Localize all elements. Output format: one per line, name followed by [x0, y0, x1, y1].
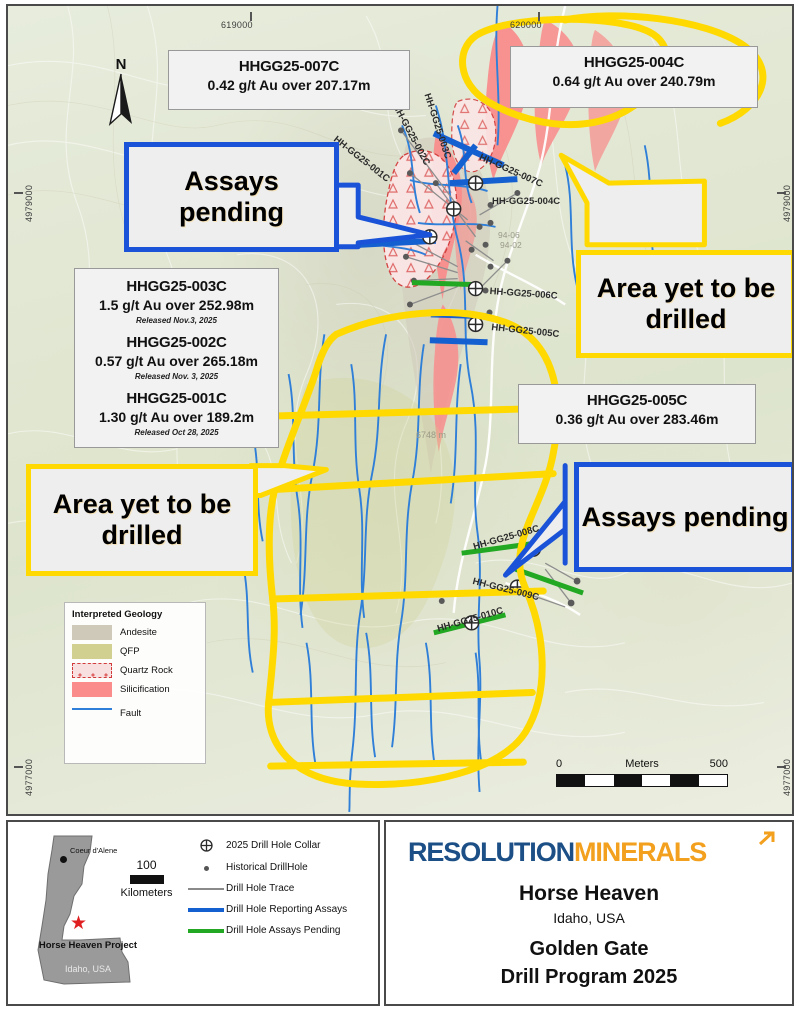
historical-drillhole-icon [186, 866, 226, 871]
title-project-name: Horse Heaven [386, 882, 792, 906]
symbol-label-collar: 2025 Drill Hole Collar [226, 840, 320, 852]
silicification-swatch [72, 682, 112, 697]
andesite-label: Andesite [120, 627, 157, 638]
symbol-label-historical: Historical DrillHole [226, 862, 308, 874]
callout-leader-assays-1 [331, 185, 429, 247]
callout-area-yet-to-be-drilled-left[interactable]: Area yet to be drilled [26, 464, 258, 576]
resolution-minerals-logo: RESOLUTIONMINERALS [408, 836, 774, 870]
silicification-label: Silicification [120, 684, 170, 695]
geology-legend-row-fault: Fault [72, 701, 198, 725]
locator-inset-map[interactable]: Coeur d'Alene ★ Horse Heaven Project Ida… [24, 830, 164, 1000]
symbol-row-pending: Drill Hole Assays Pending [186, 925, 378, 937]
fault-label: Fault [120, 708, 141, 719]
inset-state-label: Idaho, USA [38, 964, 138, 974]
map-scalebar: 0 Meters 500 [556, 758, 728, 787]
geology-legend-row-quartz: Quartz Rock [72, 663, 198, 678]
legend-panel: Coeur d'Alene ★ Horse Heaven Project Ida… [6, 820, 380, 1006]
logo-text-part2: MINERALS [574, 837, 706, 867]
inset-city-dot [60, 856, 67, 863]
title-target-name: Golden Gate [386, 938, 792, 961]
symbol-row-collar: 2025 Drill Hole Collar [186, 838, 378, 853]
fault-swatch [72, 708, 112, 725]
drill-trace-icon [186, 888, 226, 890]
callout-assays-pending-bottom[interactable]: Assays pending [574, 462, 794, 572]
map-page: 619000 620000 4979000 4977000 4979000 49… [0, 0, 800, 1010]
inset-scalebar: 100 Kilometers [119, 858, 174, 899]
symbol-row-historical: Historical DrillHole [186, 862, 378, 874]
inset-scale-bar [130, 875, 164, 884]
inset-project-label: Horse Heaven Project [38, 940, 138, 952]
symbol-label-pending: Drill Hole Assays Pending [226, 925, 341, 937]
callout-leader-area-2 [251, 466, 327, 496]
qfp-label: QFP [120, 646, 140, 657]
logo-text-part1: RESOLUTION [408, 837, 574, 867]
symbol-legend[interactable]: 2025 Drill Hole Collar Historical DrillH… [186, 838, 378, 946]
title-location: Idaho, USA [386, 910, 792, 926]
project-star-icon: ★ [70, 914, 87, 933]
logo-arrow-icon [756, 830, 778, 852]
quartz-rock-label: Quartz Rock [120, 665, 173, 676]
callout-text: Assays pending [581, 502, 788, 533]
symbol-label-reporting: Drill Hole Reporting Assays [226, 904, 347, 916]
callout-text: Area yet to be drilled [581, 273, 791, 335]
scalebar-bar [556, 774, 728, 787]
scalebar-unit: Meters [625, 758, 659, 770]
andesite-swatch [72, 625, 112, 640]
drill-collar-icon [186, 838, 226, 853]
symbol-row-trace: Drill Hole Trace [186, 883, 378, 895]
callout-leader-area-1 [561, 155, 704, 245]
scalebar-min: 0 [556, 758, 562, 770]
qfp-swatch [72, 644, 112, 659]
drill-reporting-icon [186, 908, 226, 912]
callout-leader-assays-2 [505, 466, 565, 575]
geology-legend-row-andesite: Andesite [72, 625, 198, 640]
callout-text: Assays pending [129, 166, 334, 228]
geology-legend-row-silicification: Silicification [72, 682, 198, 697]
inset-scale-number: 100 [119, 858, 174, 872]
geology-legend-title: Interpreted Geology [72, 609, 198, 620]
title-panel: RESOLUTIONMINERALS Horse Heaven Idaho, U… [384, 820, 794, 1006]
drill-pending-icon [186, 929, 226, 933]
interpreted-geology-legend[interactable]: Interpreted Geology Andesite QFP Quartz … [64, 602, 206, 764]
symbol-row-reporting: Drill Hole Reporting Assays [186, 904, 378, 916]
quartz-rock-swatch [72, 663, 112, 678]
inset-city-label: Coeur d'Alene [70, 846, 117, 855]
symbol-label-trace: Drill Hole Trace [226, 883, 294, 895]
inset-scale-unit: Kilometers [119, 887, 174, 899]
map-canvas[interactable]: 619000 620000 4979000 4977000 4979000 49… [6, 4, 794, 816]
geology-legend-row-qfp: QFP [72, 644, 198, 659]
title-program: Drill Program 2025 [386, 966, 792, 989]
callout-area-yet-to-be-drilled-top[interactable]: Area yet to be drilled [576, 250, 794, 358]
callout-text: Area yet to be drilled [31, 489, 253, 551]
scalebar-max: 500 [710, 758, 728, 770]
idaho-outline-icon [24, 830, 164, 1000]
callout-assays-pending-top[interactable]: Assays pending [124, 142, 339, 252]
